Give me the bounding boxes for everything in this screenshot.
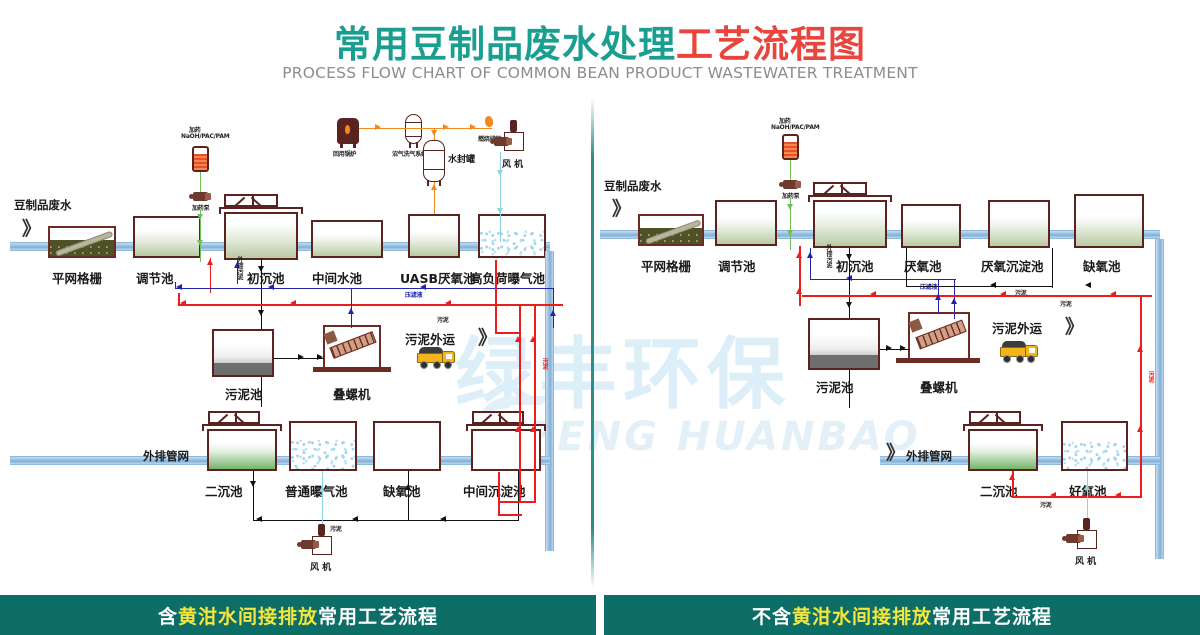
right-black-arrow-b bbox=[846, 302, 852, 308]
right-dosing-pump-icon bbox=[783, 180, 798, 189]
dosing-tank-cap bbox=[788, 134, 797, 136]
right-settler-arrow-a bbox=[990, 282, 996, 288]
right-inlet-label: 豆制品废水 bbox=[604, 178, 662, 194]
truck-wheel-2 bbox=[1016, 355, 1024, 363]
right-tank-anaerobic-settler bbox=[988, 200, 1050, 248]
right-red-riser-arrow-1 bbox=[1137, 346, 1143, 352]
left-biogas-arrow-1 bbox=[375, 124, 381, 130]
right-label-primary-clarifier: 初沉池 bbox=[836, 256, 874, 275]
seal-leg-1 bbox=[427, 180, 429, 186]
right-tank-equalization bbox=[715, 200, 777, 246]
right-row2-red-arrow-b bbox=[1115, 492, 1121, 498]
right-tank-primary-clarifier bbox=[813, 200, 887, 248]
right-inlet-chevron-icon: 》 bbox=[612, 200, 631, 219]
diagram-canvas: 绿丰环保 LVFENG HUANBAO 豆制品废水 》 平网格栅 调节池 bbox=[0, 96, 1200, 595]
left-air-arrow-2 bbox=[497, 208, 503, 214]
left-dosing-tank-icon bbox=[192, 146, 209, 172]
tank-sludge-layer bbox=[810, 355, 878, 368]
truck-wheel-3 bbox=[1027, 355, 1035, 363]
right-row2-sludge-label: 污泥 bbox=[1040, 500, 1052, 509]
left-red-foot-1 bbox=[498, 501, 536, 503]
left-tank-intermediate-water bbox=[311, 220, 383, 258]
left-press-arrow-a bbox=[298, 354, 304, 360]
left-sludge-corner bbox=[178, 293, 180, 305]
scrubber-leg-1 bbox=[409, 142, 411, 148]
left-red-arrow-4 bbox=[530, 426, 536, 432]
truck-load bbox=[1002, 341, 1026, 347]
footer-right-part3: 常用工艺流程 bbox=[932, 602, 1052, 629]
right-row2-red-arrow-c bbox=[1009, 474, 1015, 480]
footer-bar-left: 含黄泔水间接排放常用工艺流程 bbox=[0, 595, 596, 635]
scrubber-band-2 bbox=[406, 136, 421, 137]
footer-bar-right: 不含黄泔水间接排放常用工艺流程 bbox=[604, 595, 1200, 635]
left-dosing-label-2: NaOH/PAC/PAM bbox=[181, 133, 230, 140]
footer-right-part1: 不含 bbox=[752, 602, 792, 629]
left-label-flat-screen: 平网格栅 bbox=[52, 268, 102, 287]
left-bottom-blower-motor bbox=[301, 540, 316, 549]
footer: 含黄泔水间接排放常用工艺流程 不含黄泔水间接排放常用工艺流程 bbox=[0, 595, 1200, 635]
left-tank-equalization bbox=[133, 216, 201, 258]
tank-level bbox=[970, 443, 1036, 469]
bridge-diag-1 bbox=[822, 185, 834, 197]
right-label-screwpress: 叠螺机 bbox=[920, 377, 958, 396]
right-red-arrow-b bbox=[796, 288, 802, 294]
left-screwpress-base bbox=[313, 367, 391, 372]
left-top-air-line bbox=[500, 152, 501, 242]
scrubber-band-1 bbox=[406, 122, 421, 123]
tank-level bbox=[226, 224, 296, 258]
right-tank-anaerobic bbox=[901, 204, 961, 248]
right-label-sludge-tank: 污泥池 bbox=[816, 377, 854, 396]
right-sludge-export-label: 污泥外运 bbox=[992, 318, 1042, 337]
right-settler-v-2 bbox=[1052, 248, 1053, 288]
right-outlet-label: 外排管网 bbox=[906, 448, 952, 464]
right-bottom-blower-motor bbox=[1066, 534, 1081, 543]
bridge-vert bbox=[499, 413, 501, 422]
right-tank-aerobic bbox=[1061, 421, 1128, 471]
left-sludge-arrow-a bbox=[207, 259, 213, 265]
right-bottom-blower-label: 风 机 bbox=[1075, 554, 1096, 567]
right-red-sludge-vlabel: 污泥 bbox=[1146, 371, 1155, 383]
left-filtrate-arrow-b bbox=[176, 284, 182, 290]
left-black-arrow-b bbox=[258, 310, 264, 316]
panel-divider bbox=[591, 98, 594, 588]
right-filtrate-arrow-a bbox=[807, 252, 813, 258]
left-tank-anoxic bbox=[373, 421, 441, 471]
truck-wheel-1 bbox=[420, 361, 428, 369]
left-row2-sludge-h bbox=[253, 520, 518, 521]
left-dosing-arrow-2 bbox=[197, 240, 203, 246]
bridge-vert bbox=[996, 413, 998, 422]
left-boiler-icon bbox=[337, 118, 359, 144]
left-clarifier1-bridge bbox=[224, 194, 278, 207]
left-biogas-arrow-2 bbox=[443, 124, 449, 130]
right-bottom-air-arrow bbox=[1084, 484, 1090, 490]
left-red-arrow-1 bbox=[515, 336, 521, 342]
left-return-pipe-row2 bbox=[10, 456, 550, 465]
right-label-equalization: 调节池 bbox=[718, 256, 756, 275]
page-title-part2: 工艺流程图 bbox=[676, 23, 866, 66]
page-title-part1: 常用豆制品废水处理 bbox=[334, 23, 676, 66]
left-sludge-h-main bbox=[178, 304, 563, 306]
watermark-cn: 绿丰环保 bbox=[455, 312, 791, 424]
boiler-leg-1 bbox=[340, 143, 343, 148]
left-red-link-2 bbox=[495, 304, 497, 334]
left-tank-sludge bbox=[212, 329, 274, 377]
left-top-blower-motor bbox=[494, 137, 509, 146]
left-filtrate-v-2 bbox=[553, 288, 554, 328]
right-filtrate-arrow-d bbox=[935, 294, 941, 300]
dosing-tank-fill bbox=[784, 142, 797, 158]
right-press-arrow-a bbox=[886, 345, 892, 351]
left-filtrate-arrow-c bbox=[268, 284, 274, 290]
left-filtrate-up bbox=[175, 282, 176, 289]
left-label-uasb: UASB厌氧池 bbox=[400, 268, 475, 287]
right-screwpress-base bbox=[896, 358, 980, 363]
right-settler-v-1 bbox=[906, 248, 907, 286]
tank-level bbox=[1076, 216, 1142, 246]
left-label-normal-aeration: 普通曝气池 bbox=[285, 481, 348, 500]
right-red-riser-arrow-2 bbox=[1137, 426, 1143, 432]
left-seal-tank-icon bbox=[423, 140, 445, 182]
flow-chart-page: 常用豆制品废水处理工艺流程图 PROCESS FLOW CHART OF COM… bbox=[0, 0, 1200, 635]
left-row2-arrow-d bbox=[250, 481, 256, 487]
left-mid-settler-bridge bbox=[472, 411, 524, 424]
left-inlet-chevron-icon: 》 bbox=[22, 220, 41, 239]
left-row2-arrow-c bbox=[440, 516, 446, 522]
left-scrubber-label: 沼气洗气系统 bbox=[392, 149, 427, 158]
tank-level bbox=[410, 232, 458, 256]
right-riser-pipe bbox=[1155, 239, 1164, 559]
right-filtrate-h-2 bbox=[879, 279, 956, 280]
left-row2-sludge-label: 污泥 bbox=[330, 524, 342, 533]
truck-wheel-3 bbox=[444, 361, 452, 369]
left-sludge-arrow-d bbox=[445, 300, 451, 306]
right-dosing-arrow-1 bbox=[787, 204, 793, 210]
left-tank-uasb bbox=[408, 214, 460, 258]
left-red-arrow-3 bbox=[515, 426, 521, 432]
left-label-secondary-clarifier: 二沉池 bbox=[205, 481, 243, 500]
left-tank-normal-aeration bbox=[289, 421, 357, 471]
left-top-blower-label: 风 机 bbox=[502, 157, 523, 170]
right-clarifier1-bridge bbox=[813, 182, 867, 195]
left-outlet-label: 外排管网 bbox=[143, 448, 189, 464]
left-red-link-1 bbox=[495, 332, 520, 334]
footer-right-part2: 黄泔水间接排放 bbox=[792, 602, 932, 629]
left-label-high-load-aeration: 高负荷曝气池 bbox=[470, 268, 545, 287]
tank-level bbox=[903, 220, 959, 246]
right-label-flat-screen: 平网格栅 bbox=[641, 256, 691, 275]
left-label-sludge-tank: 污泥池 bbox=[225, 384, 263, 403]
dosing-tank-fill bbox=[194, 154, 207, 170]
left-tank-secondary-clarifier bbox=[207, 429, 277, 471]
left-sludge-arrow-c bbox=[290, 300, 296, 306]
bridge-vert bbox=[235, 413, 237, 422]
right-black-arrow-a bbox=[846, 254, 852, 260]
left-dosing-pump-icon bbox=[193, 192, 208, 201]
left-red-riser-2 bbox=[534, 304, 536, 501]
right-truck-icon bbox=[1000, 343, 1038, 363]
right-row2-red-h bbox=[1012, 496, 1142, 498]
seal-leg-2 bbox=[439, 180, 441, 186]
left-dosing-arrow-1 bbox=[197, 214, 203, 220]
tank-level bbox=[209, 443, 275, 469]
truck-load bbox=[419, 347, 443, 353]
tank-bubbles bbox=[1063, 441, 1126, 469]
bridge-diag-1 bbox=[216, 414, 228, 426]
tank-level bbox=[313, 234, 381, 256]
tank-bubbles bbox=[291, 439, 355, 469]
bridge-diag-1 bbox=[977, 414, 989, 426]
boiler-flame bbox=[345, 125, 350, 134]
left-bottom-blower-label: 风 机 bbox=[310, 560, 331, 573]
right-red-arrow-e bbox=[1110, 291, 1116, 297]
tank-level bbox=[717, 218, 775, 244]
left-air-arrow-1 bbox=[497, 170, 503, 176]
left-sludge-note: 污泥 bbox=[437, 315, 449, 324]
tank-level bbox=[135, 230, 199, 256]
left-black-arrow-a bbox=[258, 266, 264, 272]
left-label-intermediate-water: 中间水池 bbox=[312, 268, 362, 287]
right-dosing-tank-icon bbox=[782, 134, 799, 160]
left-seal-tank-label: 水封罐 bbox=[448, 152, 475, 165]
left-scrubber-icon bbox=[405, 114, 422, 144]
left-filtrate-arrow-f bbox=[348, 308, 354, 314]
tank-level bbox=[990, 218, 1048, 246]
right-settler-arrow-b bbox=[1085, 282, 1091, 288]
right-dosing-line-a bbox=[790, 160, 791, 182]
left-red-sludge-vlabel: 污泥 bbox=[540, 358, 549, 370]
left-row2-arrow-a bbox=[256, 516, 262, 522]
right-red-arrow-d bbox=[1000, 291, 1006, 297]
bridge-vert bbox=[841, 184, 843, 193]
right-dosing-arrow-2 bbox=[787, 230, 793, 236]
page-subtitle: PROCESS FLOW CHART OF COMMON BEAN PRODUC… bbox=[0, 64, 1200, 82]
tank-sludge-layer bbox=[214, 363, 272, 375]
bridge-diag-1 bbox=[480, 414, 492, 426]
left-tank-mid-settler bbox=[471, 429, 541, 471]
footer-left-part1: 含 bbox=[158, 602, 178, 629]
left-row2-v-1 bbox=[253, 471, 254, 521]
footer-left-part2: 黄泔水间接排放 bbox=[178, 602, 318, 629]
left-label-screwpress: 叠螺机 bbox=[333, 384, 371, 403]
truck-wheel-2 bbox=[433, 361, 441, 369]
bridge-vert bbox=[252, 196, 254, 205]
left-label-primary-clarifier: 初沉池 bbox=[247, 268, 285, 287]
right-red-arrow-c bbox=[870, 291, 876, 297]
left-row2-arrow-b bbox=[352, 516, 358, 522]
left-bottom-air-arrow bbox=[319, 486, 325, 492]
left-bottom-blower-head bbox=[318, 524, 325, 536]
left-red-from-aer bbox=[495, 260, 497, 306]
tank-bubbles bbox=[480, 230, 544, 256]
footer-left-part3: 常用工艺流程 bbox=[318, 602, 438, 629]
left-row2-v-2 bbox=[408, 471, 409, 521]
left-label-equalization: 调节池 bbox=[136, 268, 174, 287]
right-dosing-label-2: NaOH/PAC/PAM bbox=[771, 124, 820, 131]
seal-band-1 bbox=[424, 150, 444, 151]
right-press-arrow-b bbox=[900, 345, 906, 351]
right-tank-anoxic bbox=[1074, 194, 1144, 248]
left-filtrate-label: 压滤液 bbox=[405, 290, 422, 299]
bridge-diag-1 bbox=[233, 197, 245, 209]
left-dosing-line-a bbox=[200, 172, 201, 194]
left-row2-arrow-e bbox=[405, 484, 411, 490]
left-external-sludge-label: 外排污泥 bbox=[235, 256, 244, 280]
footer-gap bbox=[596, 595, 604, 635]
left-sludge-arrow-b bbox=[180, 300, 186, 306]
right-row2-red-arrow-a bbox=[1050, 492, 1056, 498]
right-filtrate-arrow-c bbox=[951, 298, 957, 304]
truck-wheel-1 bbox=[1003, 355, 1011, 363]
right-red-h-main bbox=[802, 295, 1152, 297]
right-sludge-note-2: 污泥 bbox=[1060, 299, 1072, 308]
boiler-leg-2 bbox=[353, 143, 356, 148]
right-outlet-chevron-icon: 《 bbox=[886, 444, 905, 463]
left-red-drop bbox=[498, 472, 500, 516]
page-header: 常用豆制品废水处理工艺流程图 PROCESS FLOW CHART OF COM… bbox=[0, 0, 1200, 96]
right-sec-clarifier-bridge bbox=[969, 411, 1021, 424]
left-black-sludge-v bbox=[261, 258, 262, 302]
scrubber-leg-2 bbox=[416, 142, 418, 148]
left-biogas-arrow-5 bbox=[431, 184, 437, 190]
right-label-anaerobic-settler: 厌氧沉淀池 bbox=[981, 256, 1044, 275]
dosing-tank-cap bbox=[198, 146, 207, 148]
left-filtrate-arrow-e bbox=[550, 310, 556, 316]
left-label-mid-settler: 中间沉淀池 bbox=[463, 481, 526, 500]
left-tank-primary-clarifier bbox=[224, 212, 298, 260]
left-biogas-arrow-4 bbox=[431, 130, 437, 136]
left-sec-clarifier-bridge bbox=[208, 411, 260, 424]
seal-band-2 bbox=[424, 169, 444, 170]
page-title: 常用豆制品废水处理工艺流程图 bbox=[0, 14, 1200, 68]
right-tank-secondary-clarifier bbox=[968, 429, 1038, 471]
right-red-arrow-a bbox=[796, 252, 802, 258]
right-tank-sludge bbox=[808, 318, 880, 370]
left-inlet-label: 豆制品废水 bbox=[14, 197, 72, 213]
left-flare-icon bbox=[484, 115, 493, 127]
left-press-arrow-b bbox=[317, 354, 323, 360]
right-external-sludge-label: 外排污泥 bbox=[824, 244, 833, 268]
left-label-anoxic: 缺氧池 bbox=[383, 481, 421, 500]
left-biogas-arrow-3 bbox=[470, 124, 476, 130]
left-boiler-label: 回用锅炉 bbox=[333, 149, 356, 158]
right-label-anaerobic: 厌氧池 bbox=[904, 256, 942, 275]
left-red-arrow-2 bbox=[530, 336, 536, 342]
left-red-foot-2 bbox=[498, 514, 522, 516]
right-bottom-blower-head bbox=[1083, 518, 1090, 530]
right-label-anoxic: 缺氧池 bbox=[1083, 256, 1121, 275]
right-red-riser bbox=[1140, 295, 1142, 498]
left-sludge-export-label: 污泥外运 bbox=[405, 329, 455, 348]
left-tank-high-load-aeration bbox=[478, 214, 546, 258]
tank-level bbox=[815, 212, 885, 246]
left-top-blower-head bbox=[510, 120, 517, 132]
right-settler-h bbox=[906, 286, 1052, 287]
left-truck-icon bbox=[417, 349, 455, 369]
right-sludge-export-chevron-icon: 》 bbox=[1065, 318, 1084, 337]
